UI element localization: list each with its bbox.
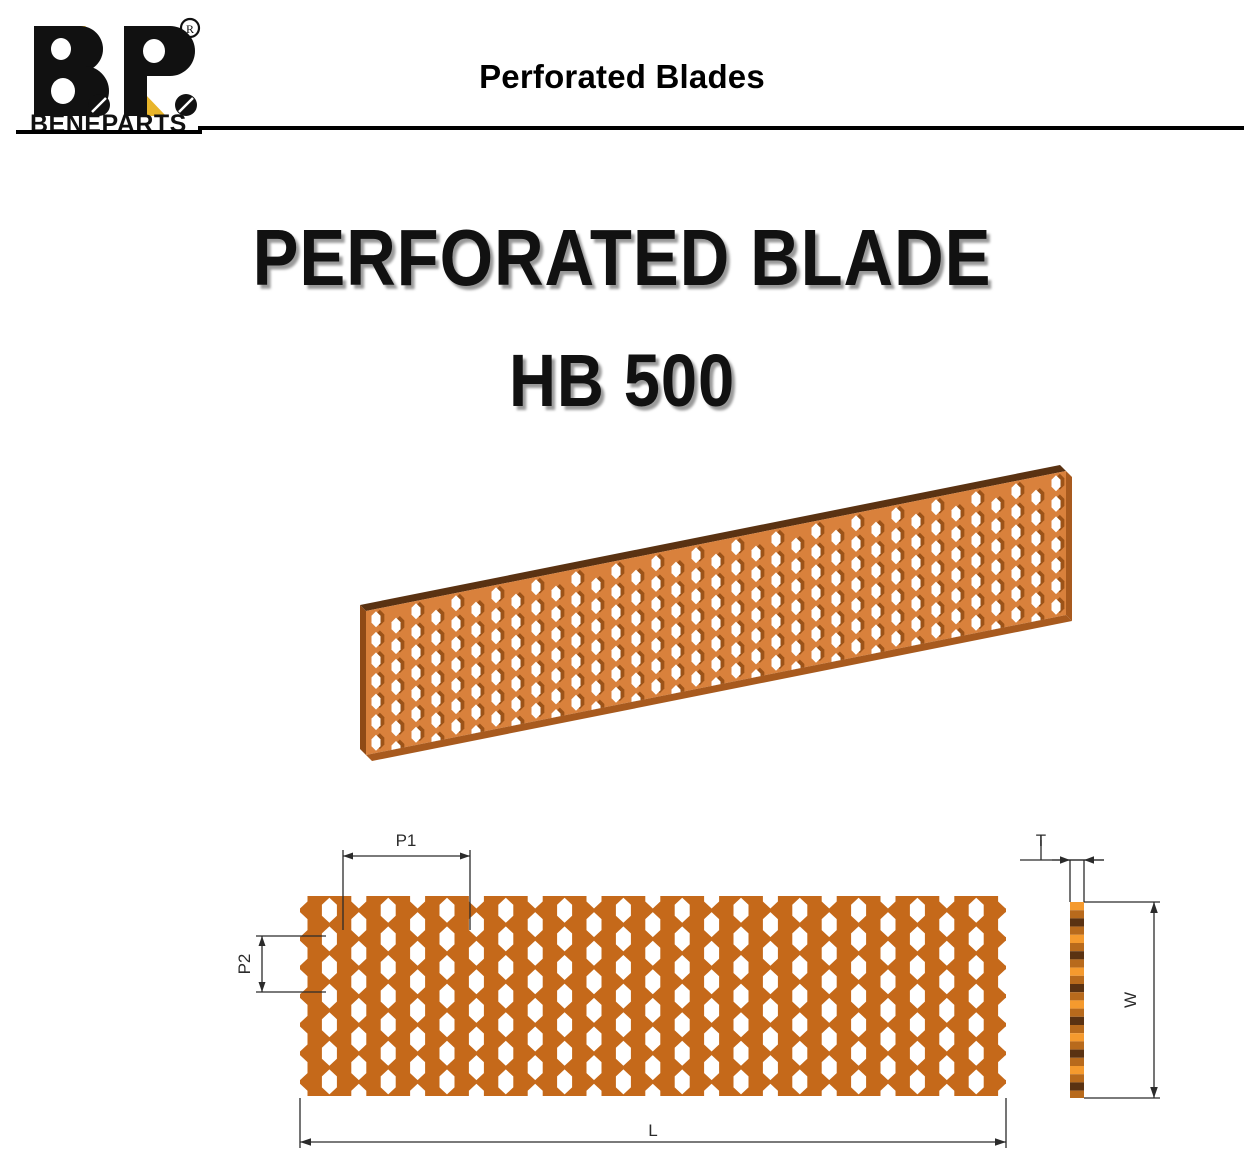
dimension-label-l: L — [648, 1121, 657, 1140]
header-divider — [198, 126, 1244, 130]
registered-trademark-glyph: R — [186, 22, 194, 36]
side-edge-band — [1070, 910, 1084, 918]
dimension-label-t: T — [1036, 831, 1046, 850]
flat-plan-view: P1 P2 L — [236, 832, 1036, 1162]
side-edge-view: T W — [1008, 832, 1198, 1132]
isometric-blade-svg — [330, 455, 1090, 805]
side-edge-band — [1070, 1058, 1084, 1066]
side-edge-svg: T W — [1008, 832, 1198, 1132]
iso-right-edge — [1066, 471, 1072, 621]
side-edge-bands — [1070, 902, 1084, 1098]
side-edge-band — [1070, 984, 1084, 992]
flat-plate — [293, 884, 1014, 1109]
side-edge-band — [1070, 968, 1084, 976]
side-edge-band — [1070, 918, 1084, 926]
product-title: PERFORATED BLADE — [87, 212, 1157, 304]
side-edge-band — [1070, 951, 1084, 959]
dimension-label-p2: P2 — [235, 954, 254, 975]
page-header-title: Perforated Blades — [0, 58, 1244, 96]
dimension-t — [1020, 840, 1104, 902]
page-header: R BENEPARTS Perforated Blades — [0, 0, 1244, 136]
side-edge-band — [1070, 1074, 1084, 1082]
side-edge-band — [1070, 959, 1084, 967]
side-edge-band — [1070, 976, 1084, 984]
side-edge-band — [1070, 1025, 1084, 1033]
side-edge-band — [1070, 1033, 1084, 1041]
side-edge-band — [1070, 992, 1084, 1000]
side-edge-band — [1070, 935, 1084, 943]
isometric-blade-view — [330, 455, 1090, 805]
side-edge-band — [1070, 1041, 1084, 1049]
side-edge-band — [1070, 927, 1084, 935]
side-edge-band — [1070, 1017, 1084, 1025]
side-edge-band — [1070, 1050, 1084, 1058]
side-edge-band — [1070, 1091, 1084, 1098]
side-edge-band — [1070, 1009, 1084, 1017]
side-edge-band — [1070, 1000, 1084, 1008]
product-model: HB 500 — [75, 338, 1170, 423]
iso-left-edge — [360, 605, 366, 755]
side-edge-band — [1070, 1082, 1084, 1090]
side-edge-band — [1070, 1066, 1084, 1074]
logo-b-counter-top — [51, 38, 71, 60]
side-edge-band — [1070, 902, 1084, 910]
dimension-label-w: W — [1121, 992, 1140, 1008]
dimension-label-p1: P1 — [396, 831, 417, 850]
header-divider-left — [16, 130, 202, 134]
side-edge-band — [1070, 943, 1084, 951]
flat-plan-svg: P1 P2 L — [236, 832, 1036, 1162]
